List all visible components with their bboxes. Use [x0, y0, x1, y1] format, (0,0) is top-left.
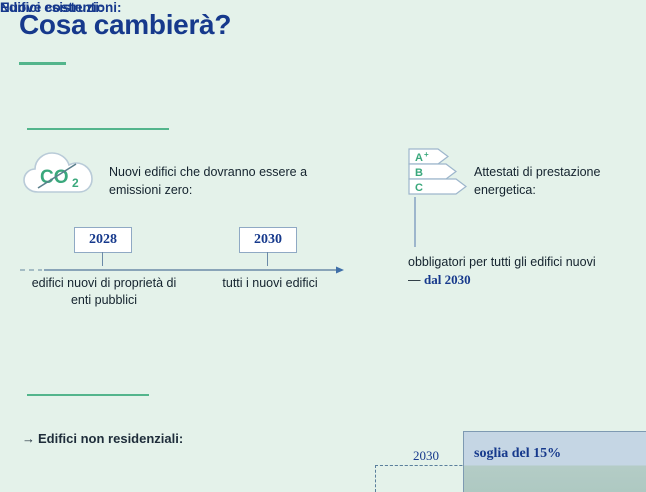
- new-buildings-description: Nuovi edifici che dovranno essere a emis…: [109, 163, 309, 199]
- title-underline: [19, 62, 66, 65]
- svg-text:2: 2: [72, 176, 79, 190]
- epc-description: Attestati di prestazione energetica:: [474, 163, 644, 199]
- arrow-right-icon: →: [22, 431, 35, 446]
- svg-text:+: +: [424, 150, 429, 159]
- energy-label-connector-line: [414, 197, 416, 247]
- energy-label-icon: A + B C: [408, 147, 478, 197]
- bullet-non-residential-label: Edifici non residenziali:: [38, 431, 183, 446]
- timeline-axis: [20, 262, 345, 272]
- svg-text:A: A: [415, 152, 423, 164]
- timeline-caption-2028: edifici nuovi di proprietà di enti pubbl…: [20, 275, 188, 309]
- timeline-year-box-2030: 2030: [239, 227, 297, 253]
- section-heading-existing-buildings: Edifici esistenti:: [0, 0, 104, 15]
- svg-text:B: B: [415, 167, 423, 179]
- timeline-year-box-2028: 2028: [74, 227, 132, 253]
- epc-note: obbligatori per tutti gli edifici nuovi …: [408, 253, 608, 289]
- svg-text:C: C: [415, 182, 423, 194]
- section-underline-existing-buildings: [27, 394, 149, 396]
- chart-year-label-2030: 2030: [413, 448, 439, 464]
- epc-note-highlight: dal 2030: [424, 272, 471, 287]
- timeline-caption-2030: tutti i nuovi edifici: [200, 275, 340, 292]
- co2-cloud-icon: CO 2: [22, 148, 100, 200]
- bullet-non-residential: →Edifici non residenziali:: [22, 431, 183, 446]
- infographic-page: Cosa cambierà? Nuove costruzioni: CO 2 N…: [0, 0, 646, 492]
- section-underline-new-buildings: [27, 128, 169, 130]
- chart-threshold-label: soglia del 15%: [474, 446, 561, 462]
